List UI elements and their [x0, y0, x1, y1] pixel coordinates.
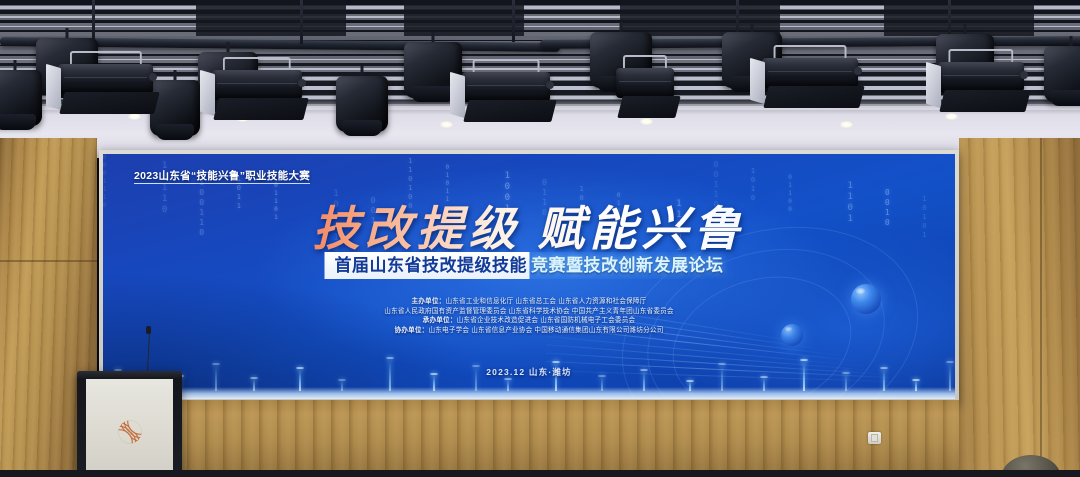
barn-door [763, 86, 864, 108]
organizer-label: 协办单位： [394, 327, 428, 334]
barn-door [200, 70, 215, 116]
organizer-row: 山东省人民政府国有资产监督管理委员会 山东省科学技术协会 中国共产主义青年团山东… [103, 307, 955, 317]
organizer-names: 山东省人民政府国有资产监督管理委员会 山东省科学技术协会 中国共产主义青年团山东… [384, 308, 673, 315]
banner-subtitle: 首届山东省技改提级技能竞赛暨技改创新发展论坛 [325, 252, 734, 279]
light-body [150, 80, 200, 136]
led-screen-frame: 0001110101100100110101101101100110001111… [99, 150, 959, 403]
banner-date-location: 2023.12 山东·潍坊 [103, 366, 955, 378]
ceiling-dark-panel [884, 0, 1034, 36]
wall-seam [1040, 138, 1042, 477]
light-body [0, 70, 42, 126]
light-lens [0, 114, 36, 130]
wainscot-panel [97, 400, 959, 477]
light-knob [546, 81, 554, 89]
light-body [1044, 46, 1080, 102]
screen-horizon-glow [103, 387, 955, 399]
barn-door [46, 64, 61, 110]
barn-door [213, 98, 308, 120]
banner-header-text: 2023山东省“技能兴鲁”职业技能大赛 [134, 168, 310, 183]
barn-door [450, 72, 465, 118]
downlight-icon [945, 113, 958, 120]
downlight-icon [128, 113, 141, 120]
truss-drop [300, 0, 303, 44]
floor-strip [0, 470, 1080, 477]
organizer-label: 主办单位： [411, 298, 445, 305]
truss-drop [512, 0, 515, 42]
light-drum [762, 58, 858, 88]
light-knob [149, 73, 157, 81]
organizer-list: 主办单位：山东省工业和信息化厅 山东省总工会 山东省人力资源和社会保障厅山东省人… [103, 297, 955, 335]
downlight-icon [640, 118, 653, 125]
light-lens [1050, 90, 1080, 106]
conference-hall-photo: 0001110101100100110101101101100110001111… [0, 0, 1080, 477]
light-lens [411, 86, 455, 102]
light-drum [616, 68, 674, 98]
barn-door [617, 96, 680, 118]
podium-front-panel [86, 379, 173, 477]
downlight-icon [440, 121, 453, 128]
organizer-names: 山东电子学会 山东省信息产业协会 中国移动通信集团山东有限公司潍坊分公司 [428, 327, 663, 334]
barn-door [939, 90, 1030, 112]
light-knob [298, 79, 306, 87]
organizer-row: 主办单位：山东省工业和信息化厅 山东省总工会 山东省人力资源和社会保障厅 [103, 297, 955, 307]
ceiling-dark-panel [404, 0, 524, 36]
ceiling-dark-panel [196, 0, 346, 36]
light-knob [1020, 71, 1028, 79]
wall-panel-right [959, 138, 1080, 477]
light-drum [462, 72, 550, 102]
led-screen: 0001110101100100110101101101100110001111… [103, 154, 955, 399]
barn-door [59, 92, 159, 114]
banner-subtitle-part2: 竞赛暨技改创新发展论坛 [529, 252, 734, 279]
light-lens [156, 124, 194, 140]
truss-drop [92, 0, 95, 42]
ceiling-dark-panel [620, 0, 780, 36]
organizer-row: 承办单位：山东省企业技术改造促进会 山东省国防机械电子工会委员会 [103, 316, 955, 326]
light-drum [938, 62, 1024, 92]
light-body [336, 76, 388, 132]
microphone-head [146, 326, 151, 334]
podium [77, 371, 182, 477]
organizer-label: 承办单位： [423, 317, 457, 324]
woven-circle-emblem [113, 415, 147, 449]
light-knob [854, 67, 862, 75]
downlight-icon [840, 121, 853, 128]
light-drum [58, 64, 153, 94]
organizer-row: 协办单位：山东电子学会 山东省信息产业协会 中国移动通信集团山东有限公司潍坊分公… [103, 326, 955, 336]
light-lens [342, 120, 382, 136]
banner-subtitle-part1: 首届山东省技改提级技能 [325, 252, 530, 279]
banner-header-label: 2023山东省“技能兴鲁”职业技能大赛 [134, 170, 310, 184]
barn-door [463, 100, 556, 122]
barn-door [750, 58, 765, 104]
banner-main-title: 技改提级 赋能兴鲁 [103, 190, 955, 259]
organizer-names: 山东省企业技术改造促进会 山东省国防机械电子工会委员会 [457, 317, 636, 324]
barn-door [926, 62, 941, 108]
wall-switch[interactable] [868, 432, 881, 444]
organizer-names: 山东省工业和信息化厅 山东省总工会 山东省人力资源和社会保障厅 [445, 298, 646, 305]
light-drum [212, 70, 302, 100]
